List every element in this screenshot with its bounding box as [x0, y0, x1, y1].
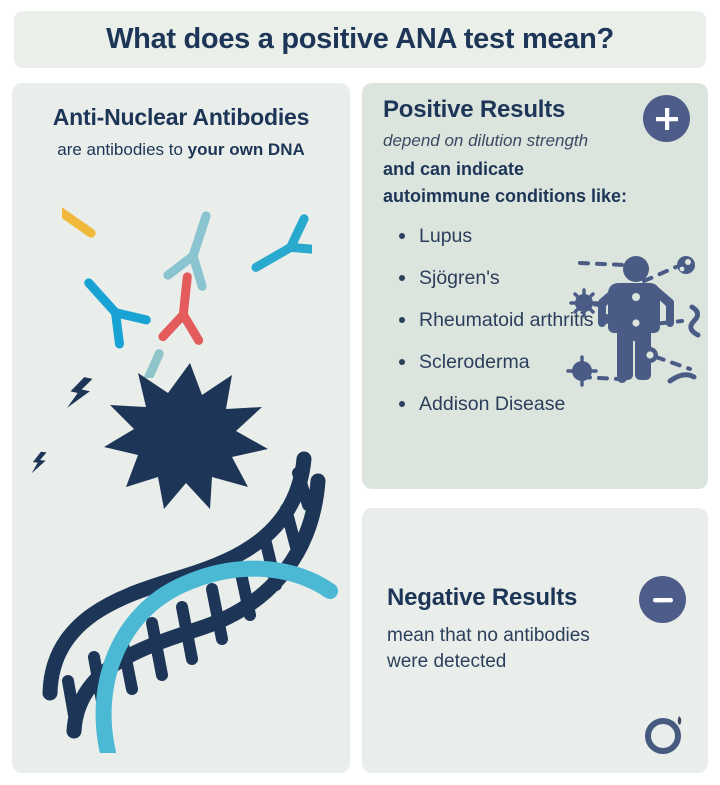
left-panel-heading: Anti-Nuclear Antibodies [12, 104, 350, 131]
left-panel-sub-normal: are antibodies to [57, 140, 187, 159]
positive-results-line2: and can indicate [383, 159, 524, 180]
panel-positive-results: Positive Results depend on dilution stre… [362, 83, 708, 489]
list-item: Rheumatoid arthritis [396, 307, 606, 334]
positive-results-line3: autoimmune conditions like: [383, 186, 627, 207]
negative-results-line2: were detected [387, 651, 506, 673]
left-panel-sub-strong: your own DNA [188, 140, 305, 159]
panel-anti-nuclear-antibodies: Anti-Nuclear Antibodies are antibodies t… [12, 83, 350, 773]
page-title: What does a positive ANA test mean? [106, 23, 614, 56]
impact-starburst-icon [104, 363, 268, 509]
list-item: Addison Disease [396, 391, 606, 418]
antibody-y-shapes-icon [62, 193, 312, 383]
minus-icon [639, 576, 686, 623]
negative-results-line1: mean that no antibodies [387, 625, 590, 647]
lightning-spark-icons [32, 375, 181, 475]
left-panel-subheading: are antibodies to your own DNA [12, 140, 350, 160]
panel-negative-results: Negative Results mean that no antibodies… [362, 508, 708, 773]
list-item: Scleroderma [396, 349, 606, 376]
infographic-root: What does a positive ANA test mean? Anti… [0, 0, 720, 785]
positive-results-italic-line: depend on dilution strength [383, 131, 588, 151]
header-bar: What does a positive ANA test mean? [14, 11, 706, 68]
plus-icon [643, 95, 690, 142]
dna-and-impact-illustration [12, 363, 350, 758]
cell-ring-icon [638, 702, 694, 763]
negative-results-title: Negative Results [387, 584, 577, 612]
list-item: Lupus [396, 223, 606, 250]
list-item: Sjögren's [396, 265, 606, 292]
autoimmune-conditions-list: Lupus Sjögren's Rheumatoid arthritis Scl… [396, 223, 606, 433]
dna-double-helix-icon [50, 459, 330, 753]
positive-results-title: Positive Results [383, 96, 565, 124]
